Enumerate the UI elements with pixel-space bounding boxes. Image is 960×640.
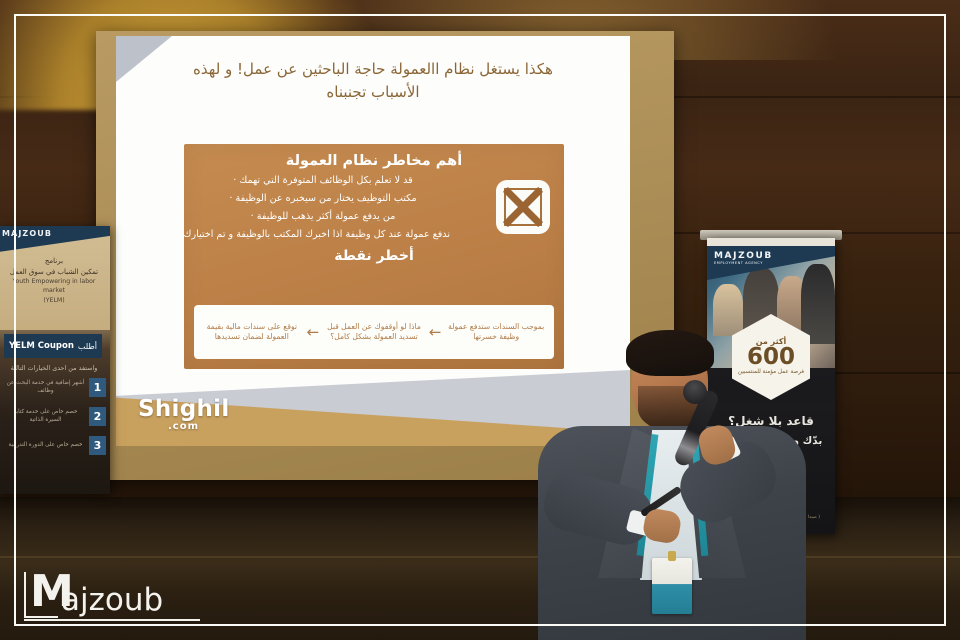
risks-card: أهم مخاطر نظام العمولة قد لا تعلم بكل ال… [184,144,564,369]
slide-title: هكذا يستغل نظام االعمولة حاجة الباحثين ع… [142,58,604,105]
person-silhouette [713,284,743,336]
left-banner-options: 1 أشهر إضافية في خدمة البحث عن وظائف 2 خ… [2,378,106,465]
shighil-logo: Shighil .com [138,398,230,432]
program-label: برنامج [2,256,106,267]
program-title: تمكين الشباب في سوق العمل [2,267,106,278]
list-item: 1 أشهر إضافية في خدمة البحث عن وظائف [2,378,106,397]
crossed-out-box-icon [496,180,550,234]
list-item: 3 خصم خاص على الدورة التدريبية [2,436,106,455]
slide-title-line2: الأسباب تجنبناه [142,81,604,104]
flow-diagram: بموجب السندات ستدفع عمولة وظيفة خسرتها ←… [194,305,554,359]
majzoub-watermark: M ajzoub [24,572,163,618]
left-rollup-banner: MAJZOUB برنامج تمكين الشباب في سوق العمل… [0,226,110,494]
list-item: 2 خصم خاص على خدمة كتابة السيرة الذاتية [2,407,106,426]
left-banner-brand: MAJZOUB [2,229,52,238]
yelm-coupon-block: YELM Coupon أطلب [4,334,102,358]
presenter-hair [626,330,714,376]
list-item: قد لا تعلم بكل الوظائف المتوفرة التي تهم… [196,176,450,186]
left-banner-midtext: واستفد من احدى الخيارات التالية [0,364,110,372]
watermark-underline [24,619,200,621]
shighil-logo-text: Shighil [138,396,230,422]
photo-canvas: هكذا يستغل نظام االعمولة حاجة الباحثين ع… [0,0,960,640]
option-number: 2 [89,407,106,426]
option-text: أشهر إضافية في خدمة البحث عن وظائف [2,380,89,396]
option-number: 3 [89,436,106,455]
coupon-label: YELM Coupon [9,341,74,351]
flow-step-1: توقع على سندات مالية بقيمة العمولة لضمان… [198,322,306,343]
slide-title-line1: هكذا يستغل نظام االعمولة حاجة الباحثين ع… [142,58,604,81]
watermark-bracket: M [24,572,58,618]
program-abbr: (YELM) [2,296,106,305]
option-text: خصم خاص على خدمة كتابة السيرة الذاتية [2,409,89,425]
risk-bullet-list: قد لا تعلم بكل الوظائف المتوفرة التي تهم… [196,176,490,240]
coupon-cta: أطلب [78,342,97,351]
arrow-left-icon: ← [306,325,321,340]
list-item: من يدفع عمولة أكثر يذهب للوظيفة [196,212,450,222]
option-text: خصم خاص على الدورة التدريبية [2,442,89,450]
presenter [520,330,820,640]
arrow-left-icon: ← [428,325,443,340]
right-banner-brand-text: MAJZOUB [714,251,773,261]
flow-step-2: ماذا لو أوقفوك عن العمل قبل تسديد العمول… [320,322,428,343]
list-item: ندفع عمولة عند كل وظيفة اذا اخبرك المكتب… [196,230,450,240]
badge-clip [668,551,676,561]
watermark-text: ajzoub [61,583,163,617]
option-number: 1 [89,378,106,397]
program-title-en: Youth Empowering in labor market [2,277,106,296]
left-banner-program: برنامج تمكين الشباب في سوق العمل Youth E… [0,256,110,305]
card-subheading: أخطر نقطة [184,248,564,264]
shighil-logo-tld: .com [168,422,230,432]
list-item: مكتب التوظيف يختار من سيخبره عن الوظيفة [196,194,450,204]
watermark-letter: M [30,574,73,611]
right-banner-brand-sub: EMPLOYMENT AGENCY [714,261,773,265]
right-banner-brand: MAJZOUB EMPLOYMENT AGENCY [714,251,773,265]
conference-name-badge [652,558,692,614]
card-heading: أهم مخاطر نظام العمولة [184,144,564,174]
